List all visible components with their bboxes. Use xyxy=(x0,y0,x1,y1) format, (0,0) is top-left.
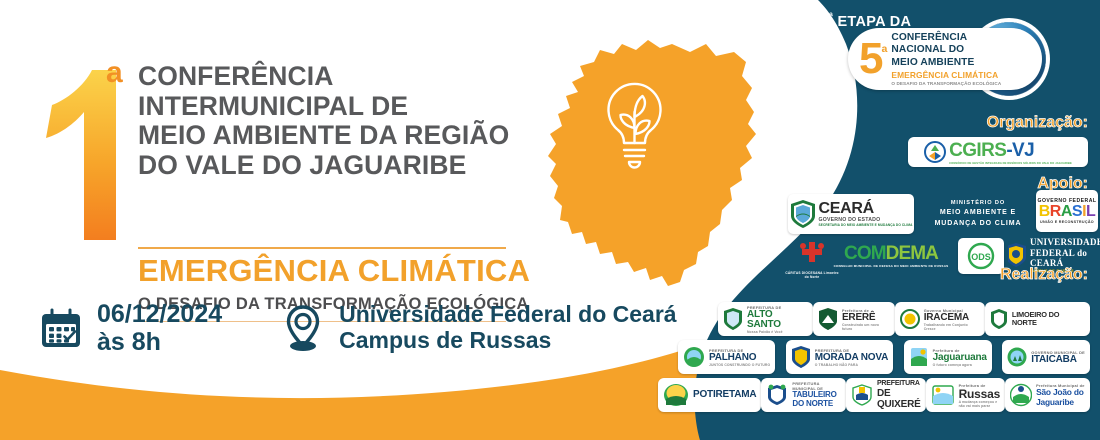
alto-santo-post: Nossa Paixão é Você xyxy=(747,330,808,334)
conference-theme: EMERGÊNCIA CLIMÁTICA xyxy=(138,255,564,288)
ceara-state-crest xyxy=(790,199,816,229)
erere-post: Construindo um novo futuro xyxy=(842,323,890,331)
etapa-number: 1 xyxy=(821,14,829,30)
russas-post: A mudança começou e não vai mais parar xyxy=(959,400,1001,408)
city-crest-icon xyxy=(851,383,873,407)
logo-ceara-governo-do-estado: CEARÁ GOVERNO DO ESTADO SECRETARIA DO ME… xyxy=(788,194,914,234)
badge-line-2: NACIONAL DO xyxy=(891,44,1001,56)
ordinal-suffix: a xyxy=(106,58,123,88)
cgirs-name-part2: -VJ xyxy=(1006,140,1034,162)
logo-prefeitura-erere: Prefeitura de ERERÊ Construindo um novo … xyxy=(813,302,895,336)
sao-joao-name: São João do Jaguaribe xyxy=(1036,388,1085,406)
realizacao-row-3: POTIRETAMA PREFEITURA MUNICIPAL DE TABUL… xyxy=(658,378,1090,412)
logo-itaicaba: GOVERNO MUNICIPAL DE ITAICABA xyxy=(1002,340,1090,374)
calendar-icon xyxy=(38,305,84,351)
event-banner: a CONFERÊNCIA INTERMUNICIPAL DE MEIO AMB… xyxy=(0,0,1100,440)
conference-title: CONFERÊNCIA INTERMUNICIPAL DE MEIO AMBIE… xyxy=(138,62,509,180)
realizacao-row-2: PREFEITURA DE PALHANO JUNTOS CONSTRUINDO… xyxy=(678,340,1090,374)
title-line-3: MEIO AMBIENTE DA REGIÃO xyxy=(138,121,509,151)
badge-line-4: EMERGÊNCIA CLIMÁTICA xyxy=(891,70,1001,80)
ufc-line1: UNIVERSIDADE xyxy=(1030,237,1100,247)
city-crest-icon xyxy=(1010,383,1032,407)
logo-limoeiro-do-norte: LIMOEIRO DO NORTE xyxy=(985,302,1090,336)
badge-line-5: O DESAFIO DA TRANSFORMAÇÃO ECOLÓGICA xyxy=(891,81,1001,86)
cgirs-recycle-icon xyxy=(924,141,946,163)
palhano-post: JUNTOS CONSTRUINDO O FUTURO xyxy=(709,363,770,367)
event-venue-text: Universidade Federal do Ceará Campus de … xyxy=(339,302,676,354)
event-date: 06/12/2024 às 8h xyxy=(38,300,222,356)
logo-governo-federal-brasil: GOVERNO FEDERAL BRASIL UNIÃO E RECONSTRU… xyxy=(1036,190,1098,232)
logo-alto-santo: PREFEITURA DE ALTO SANTO Nossa Paixão é … xyxy=(718,302,813,336)
event-venue-line2: Campus de Russas xyxy=(339,328,676,354)
event-venue-line1: Universidade Federal do Ceará xyxy=(339,302,676,328)
headline-block: a CONFERÊNCIA INTERMUNICIPAL DE MEIO AMB… xyxy=(44,48,564,322)
logo-palhano: PREFEITURA DE PALHANO JUNTOS CONSTRUINDO… xyxy=(678,340,775,374)
mma-line2: MEIO AMBIENTE E xyxy=(935,208,1022,219)
label-realizacao: Realização: xyxy=(1000,266,1088,284)
logo-sao-joao-do-jaguaribe: Prefeitura Municipal de São João do Jagu… xyxy=(1005,378,1090,412)
logo-cgirs-vj: CGIRS -VJ CONSÓRCIO DE GESTÃO INTEGRADA … xyxy=(908,137,1088,167)
logo-ods: ODS xyxy=(958,238,1004,274)
event-date-line2: às 8h xyxy=(97,328,222,356)
label-organizacao: Organização: xyxy=(987,114,1088,132)
5a-conferencia-nacional-badge: 5ª CONFERÊNCIA NACIONAL DO MEIO AMBIENTE… xyxy=(848,28,1042,90)
city-crest-icon xyxy=(909,345,929,369)
map-pin-icon xyxy=(280,303,326,353)
iracema-post: Trabalhando em Conjunto Cresce xyxy=(924,323,980,331)
logo-quixere: PREFEITURA DE QUIXERÉ xyxy=(846,378,926,412)
ceara-sub2: SECRETARIA DO MEIO AMBIENTE E MUDANÇA DO… xyxy=(819,223,913,227)
logo-comdema: COMDEMA CONSELHO MUNICIPAL DE DEFESA DO … xyxy=(830,238,952,274)
jaguaruana-name: Jaguaruana xyxy=(933,353,987,363)
ceara-name: CEARÁ xyxy=(819,201,874,217)
ordinal-number-graphic: a xyxy=(44,50,136,240)
divider-top xyxy=(138,247,506,249)
city-crest-icon xyxy=(818,307,838,331)
city-crest-icon xyxy=(1007,346,1027,368)
quixere-pre: PREFEITURA xyxy=(877,380,921,388)
logo-jaguaruana: Prefeitura de Jaguaruana O futuro começa… xyxy=(904,340,992,374)
city-crest-icon xyxy=(683,346,705,368)
morada-nova-name: MORADA NOVA xyxy=(815,353,888,363)
logo-potiretama: POTIRETAMA xyxy=(658,378,761,412)
city-crest-icon xyxy=(766,383,788,407)
logo-russas: Prefeitura de Russas A mudança começou e… xyxy=(926,378,1006,412)
comdema-name: COMDEMA xyxy=(830,244,952,263)
logo-morada-nova: PREFEITURA DE MORADA NOVA O TRABALHO NÃO… xyxy=(786,340,893,374)
itaicaba-name: ITAICABA xyxy=(1031,355,1085,365)
city-crest-icon xyxy=(791,345,811,369)
morada-nova-post: O TRABALHO NÃO PARA xyxy=(815,363,888,367)
caritas-cross-icon xyxy=(797,240,827,266)
brasil-sub: UNIÃO E RECONSTRUÇÃO xyxy=(1036,220,1098,224)
svg-text:ODS: ODS xyxy=(971,252,991,262)
cgirs-subtitle: CONSÓRCIO DE GESTÃO INTEGRADA DE RESÍDUO… xyxy=(949,162,1072,165)
logo-iracema: Governo Municipal IRACEMA Trabalhando em… xyxy=(895,302,985,336)
jaguaruana-post: O futuro começa agora xyxy=(933,363,987,367)
alto-santo-name: ALTO SANTO xyxy=(747,310,808,330)
ods-circle-icon: ODS xyxy=(963,242,999,270)
badge-number: 5ª xyxy=(859,37,885,81)
potiretama-name: POTIRETAMA xyxy=(693,390,756,400)
city-crest-icon xyxy=(990,308,1008,330)
iracema-name: IRACEMA xyxy=(924,313,980,323)
mma-line1: MINISTÉRIO DO xyxy=(935,199,1022,209)
tabuleiro-name: TABULEIRO DO NORTE xyxy=(792,391,841,409)
title-line-4: DO VALE DO JAGUARIBE xyxy=(138,151,509,181)
erere-name: ERERÊ xyxy=(842,313,890,323)
title-line-2: INTERMUNICIPAL DE xyxy=(138,92,509,122)
limoeiro-name: LIMOEIRO DO NORTE xyxy=(1012,311,1085,327)
cgirs-name-part1: CGIRS xyxy=(949,140,1006,162)
logo-tabuleiro-do-norte: PREFEITURA MUNICIPAL DE TABULEIRO DO NOR… xyxy=(761,378,846,412)
event-date-line1: 06/12/2024 xyxy=(97,300,222,328)
quixere-name: DE QUIXERÉ xyxy=(877,388,921,410)
city-crest-icon xyxy=(900,308,920,330)
city-crest-icon xyxy=(663,383,689,407)
event-date-text: 06/12/2024 às 8h xyxy=(97,300,222,356)
title-line-1: CONFERÊNCIA xyxy=(138,62,509,92)
city-crest-icon xyxy=(931,383,955,407)
mma-line3: MUDANÇA DO CLIMA xyxy=(935,219,1022,230)
ufc-crest xyxy=(1008,242,1027,268)
comdema-sub: CONSELHO MUNICIPAL DE DEFESA DO MEIO AMB… xyxy=(830,264,952,268)
palhano-name: PALHANO xyxy=(709,353,770,363)
brasil-name: BRASIL xyxy=(1036,204,1098,221)
city-crest-icon xyxy=(723,307,743,331)
logo-ministerio-meio-ambiente: MINISTÉRIO DO MEIO AMBIENTE E MUDANÇA DO… xyxy=(930,194,1026,234)
realizacao-row-1: PREFEITURA DE ALTO SANTO Nossa Paixão é … xyxy=(718,302,1090,336)
event-details: 06/12/2024 às 8h Universidade Federal do… xyxy=(38,300,677,356)
event-venue: Universidade Federal do Ceará Campus de … xyxy=(280,302,676,354)
sponsors-panel: 1ª ETAPA DA 5ª CONFERÊNCIA NACIONAL DO xyxy=(640,0,1100,440)
badge-line-3: MEIO AMBIENTE xyxy=(891,57,1001,69)
russas-name: Russas xyxy=(959,388,1001,400)
badge-line-1: CONFERÊNCIA xyxy=(891,32,1001,44)
